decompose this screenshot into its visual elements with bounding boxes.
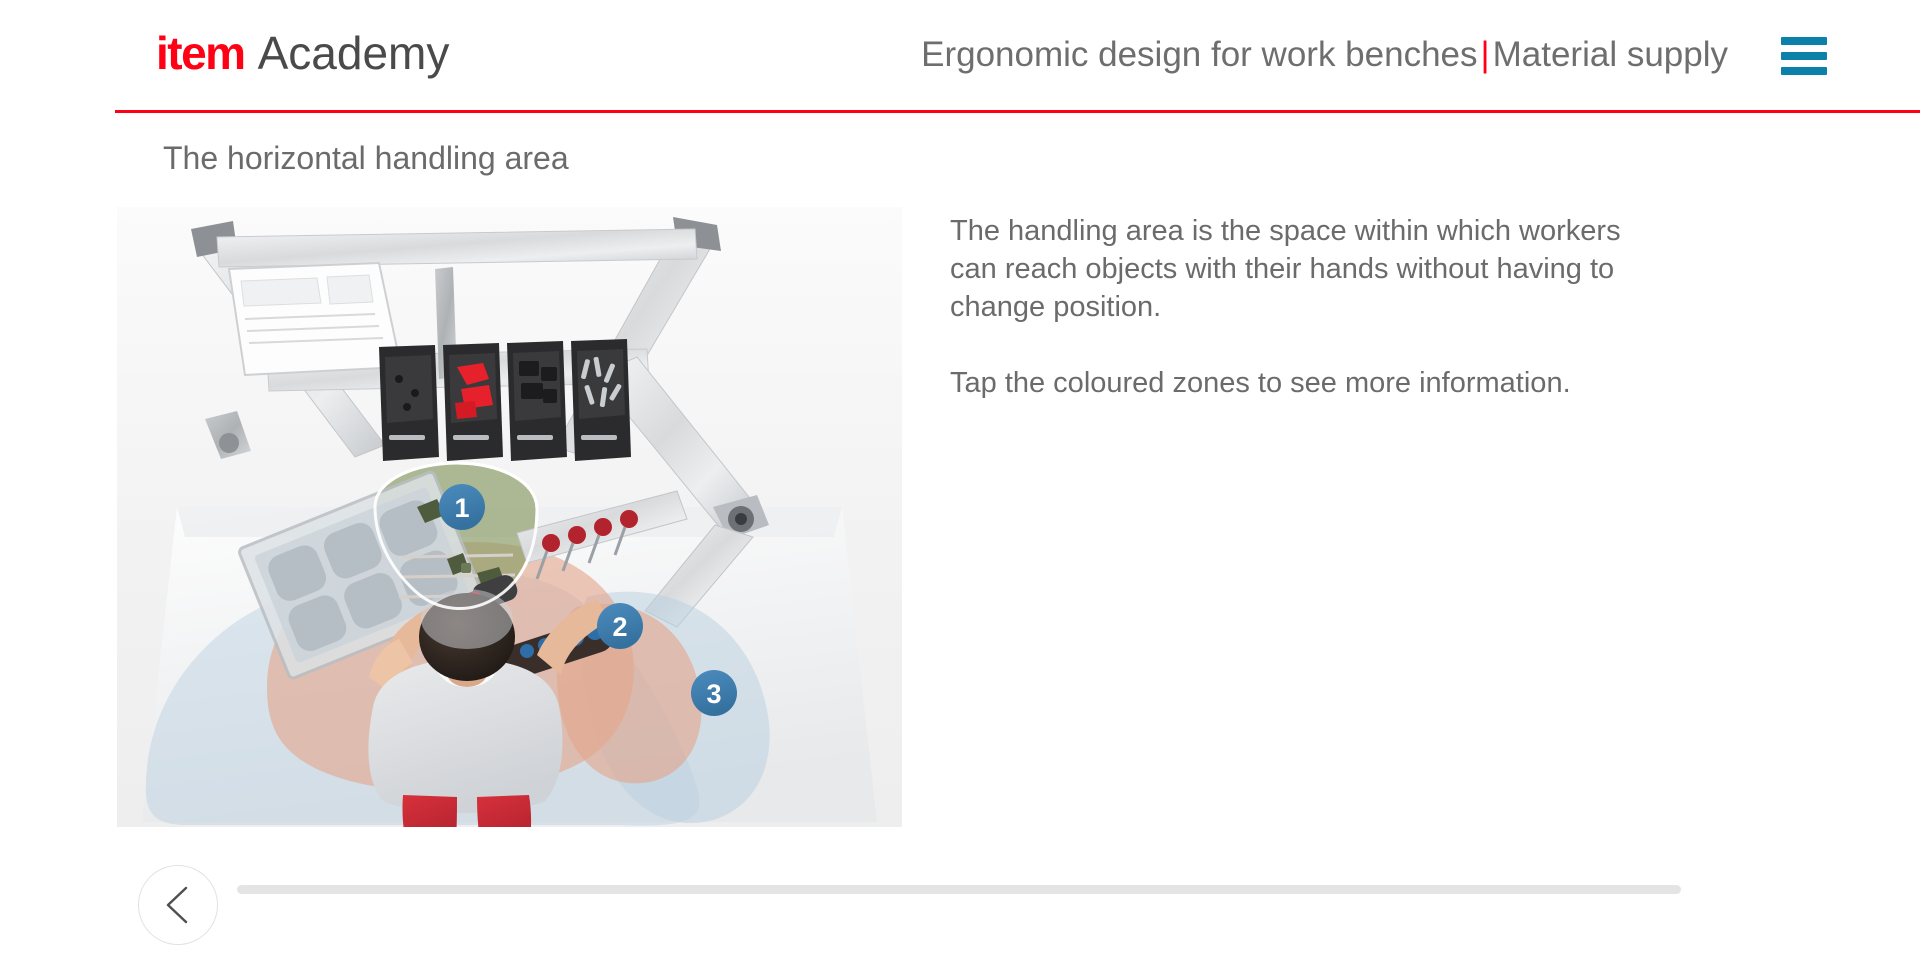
hotspot-marker-2[interactable]: 2 [597,603,643,649]
content-paragraph-1: The handling area is the space within wh… [950,212,1660,326]
hamburger-bar-2 [1781,52,1827,60]
workbench-illustration[interactable]: 1 2 3 [117,207,902,827]
header-breadcrumb: Ergonomic design for work benches|Materi… [921,35,1728,75]
breadcrumb-module-title: Material supply [1493,35,1728,74]
progress-bar[interactable] [237,885,1681,894]
app-header: item Academy Ergonomic design for work b… [0,0,1920,116]
workbench-scene-svg: 1 2 3 [117,207,902,827]
chevron-left-icon [161,884,195,926]
hotspot-marker-3-label: 3 [706,679,721,709]
page-title: The horizontal handling area [163,140,569,177]
breadcrumb-separator: | [1478,35,1493,74]
hamburger-menu-icon[interactable] [1781,37,1827,75]
content-paragraph-2: Tap the coloured zones to see more infor… [950,364,1660,402]
app-footer [0,845,1920,955]
brand-name-item: item [156,26,245,80]
hotspot-marker-1-label: 1 [454,493,469,523]
hamburger-bar-1 [1781,37,1827,45]
breadcrumb-course-title: Ergonomic design for work benches [921,35,1477,74]
hotspot-marker-2-label: 2 [612,612,627,642]
previous-button[interactable] [138,865,218,945]
hamburger-bar-3 [1781,67,1827,75]
brand-name-academy: Academy [258,26,450,80]
hotspot-marker-1[interactable]: 1 [439,484,485,530]
header-divider [115,110,1920,113]
hotspot-marker-3[interactable]: 3 [691,670,737,716]
brand-logo[interactable]: item Academy [156,26,449,80]
document-holder [229,263,401,375]
content-text: The handling area is the space within wh… [950,212,1660,402]
app-page: item Academy Ergonomic design for work b… [0,0,1920,955]
